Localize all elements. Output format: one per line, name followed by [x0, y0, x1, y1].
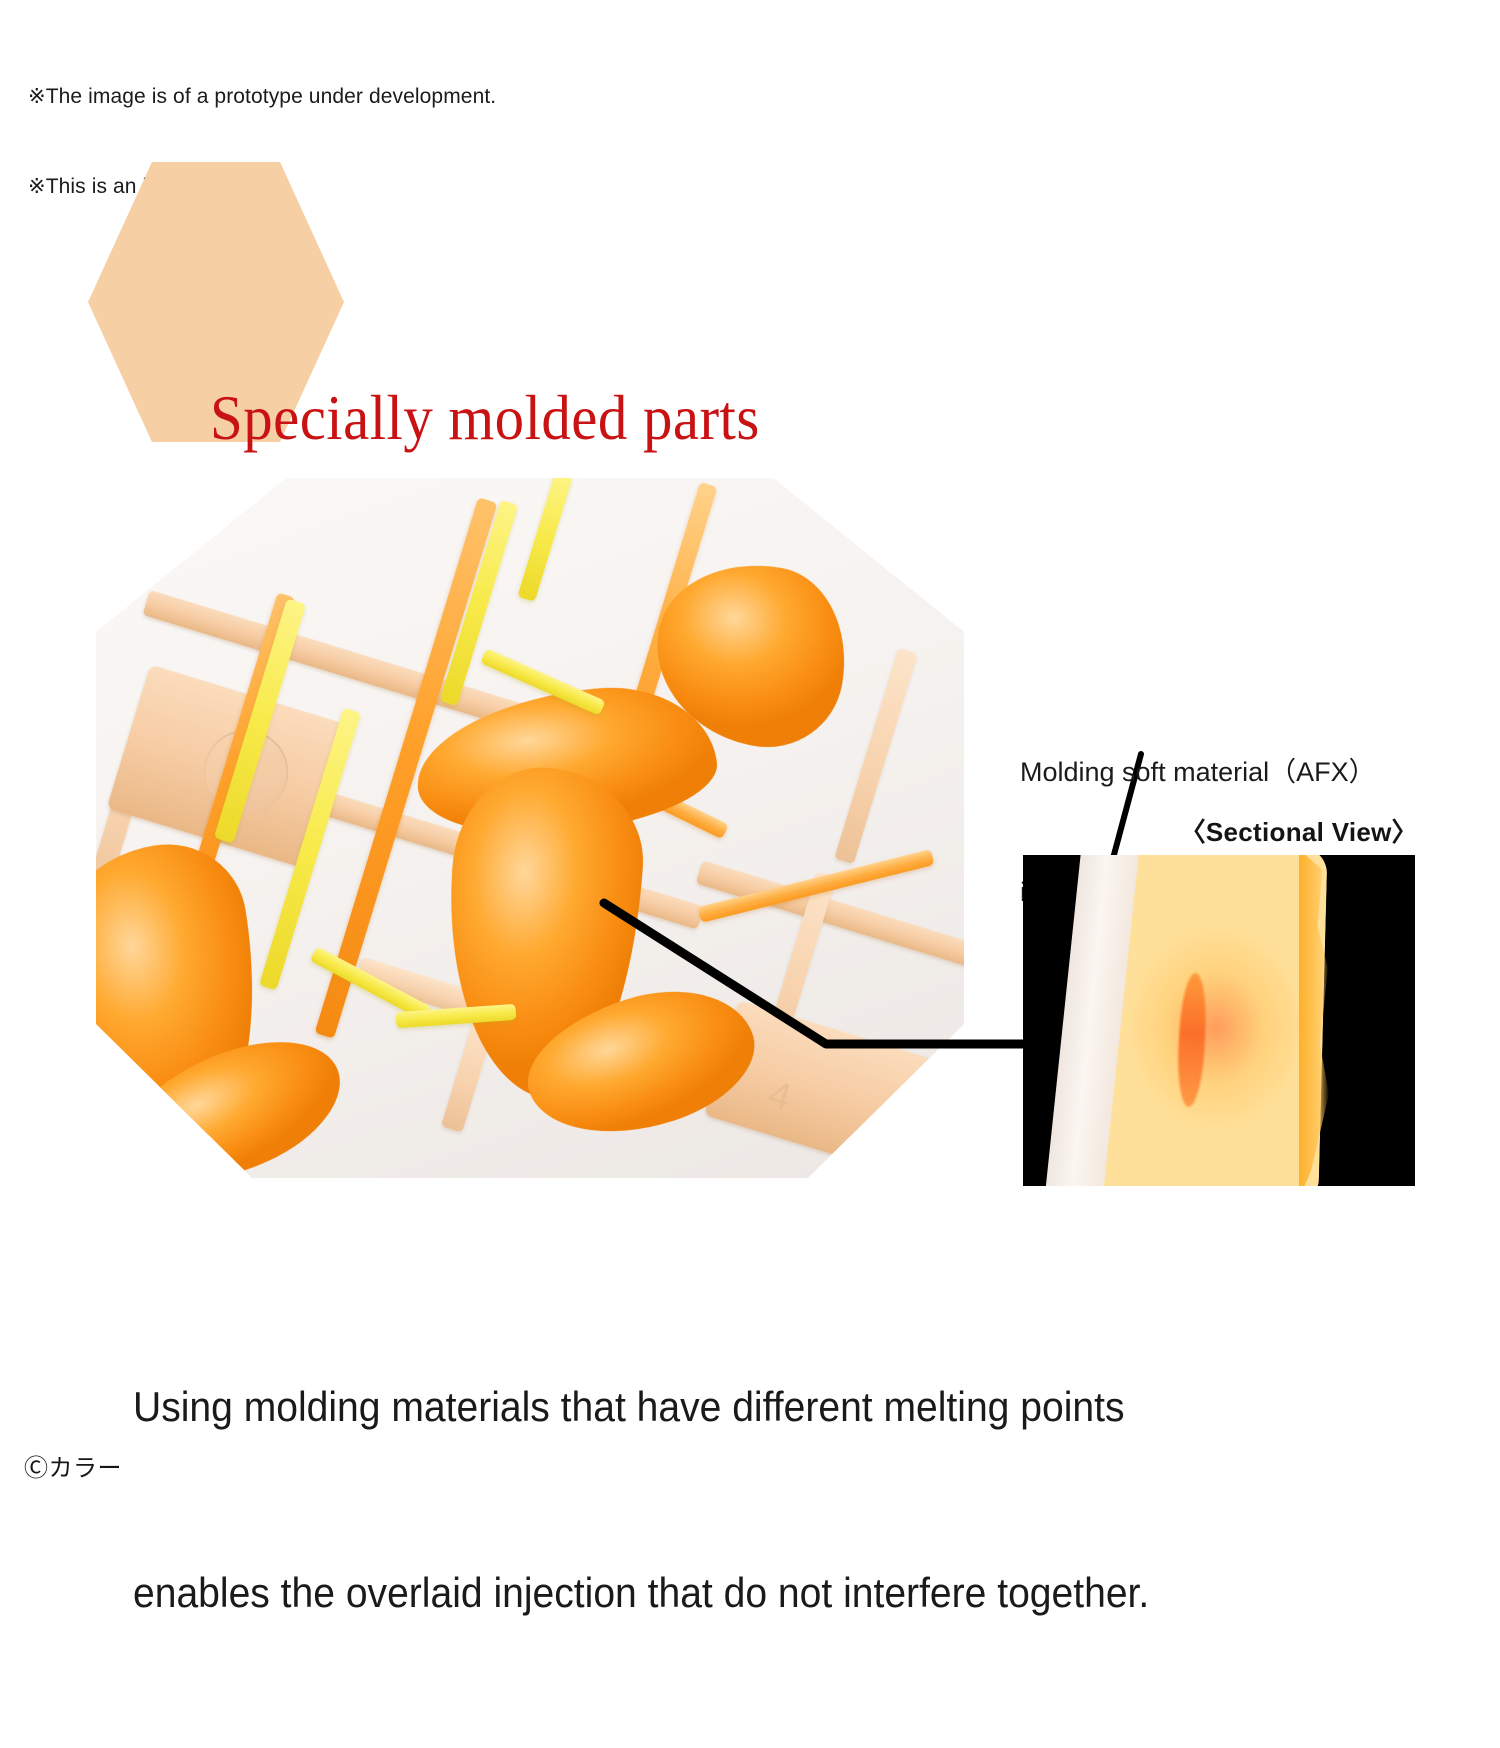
disclaimer-line-1: ※The image is of a prototype under devel…	[28, 82, 496, 112]
sectional-view-photo	[1023, 855, 1415, 1186]
page-title-line-1: Specially molded parts	[210, 378, 983, 458]
caption-line-2: enables the overlaid injection that do n…	[133, 1562, 1323, 1624]
afx-annotation-line-1: Molding soft material（AFX）	[1020, 752, 1450, 792]
caption-line-1: Using molding materials that have differ…	[133, 1376, 1323, 1438]
copyright-notice: Ⓒカラー	[24, 1448, 122, 1483]
sectional-view-label: 〈Sectional View〉	[1020, 812, 1418, 849]
page-root: ※The image is of a prototype under devel…	[0, 0, 1500, 1500]
caption: Using molding materials that have differ…	[133, 1252, 1323, 1748]
sprue-photo: 4	[96, 478, 964, 1178]
